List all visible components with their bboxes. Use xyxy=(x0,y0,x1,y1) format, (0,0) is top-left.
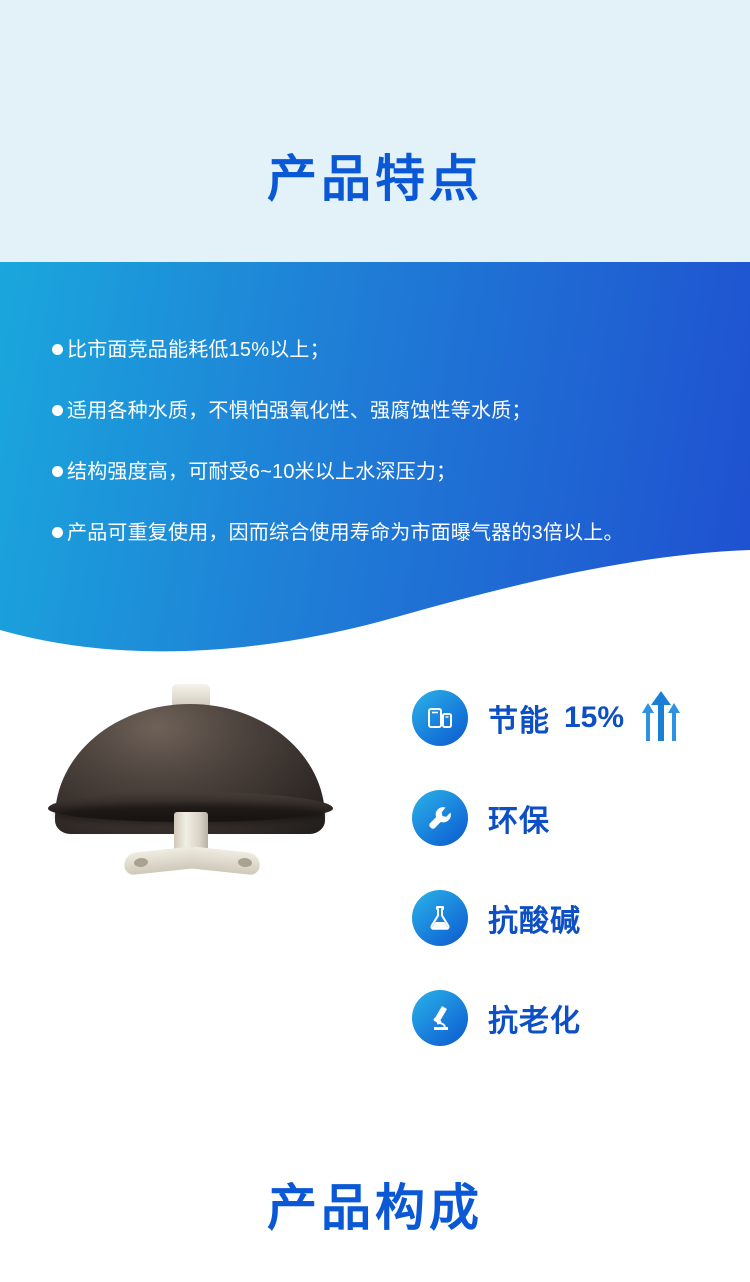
bullet-icon xyxy=(52,405,63,416)
benefit-row-energy-saving: 节能 15% xyxy=(412,690,732,746)
energy-saving-icon xyxy=(412,690,468,746)
microscope-icon xyxy=(412,990,468,1046)
feature-text: 结构强度高，可耐受6~10米以上水深压力； xyxy=(67,461,456,483)
benefit-row-acid-alkali: 抗酸碱 xyxy=(412,890,732,946)
list-item: 适用各种水质，不惧怕强氧化性、强腐蚀性等水质； xyxy=(52,399,712,424)
benefit-value: 15% xyxy=(564,701,624,735)
header-band: 产品特点 xyxy=(0,0,750,262)
benefit-row-anti-aging: 抗老化 xyxy=(412,990,732,1046)
benefit-row-eco: 环保 xyxy=(412,790,732,846)
benefit-label: 抗老化 xyxy=(488,996,581,1040)
list-item: 比市面竞品能耗低15%以上； xyxy=(52,338,712,363)
wrench-glyph-icon xyxy=(425,803,455,833)
list-item: 产品可重复使用，因而综合使用寿命为市面曝气器的3倍以上。 xyxy=(52,521,712,546)
flask-icon xyxy=(412,890,468,946)
features-section: 比市面竞品能耗低15%以上； 适用各种水质，不惧怕强氧化性、强腐蚀性等水质； 结… xyxy=(0,262,750,662)
arrow-up-icon xyxy=(638,689,684,748)
microscope-glyph-icon xyxy=(425,1003,455,1033)
feature-text: 比市面竞品能耗低15%以上； xyxy=(67,339,330,361)
wrench-icon xyxy=(412,790,468,846)
benefit-label: 环保 xyxy=(488,796,550,840)
section-title-composition: 产品构成 xyxy=(0,1168,750,1240)
benefit-label: 节能 xyxy=(488,696,550,740)
product-image xyxy=(48,672,368,902)
product-showcase: 节能 15% xyxy=(0,662,750,1102)
device-glyph-icon xyxy=(425,703,455,733)
wave-divider-icon xyxy=(0,544,750,662)
page-title: 产品特点 xyxy=(0,152,750,207)
feature-text: 产品可重复使用，因而综合使用寿命为市面曝气器的3倍以上。 xyxy=(67,522,624,544)
triple-arrow-up-icon xyxy=(638,689,684,743)
product-detail-page: 产品特点 比市面竞品能耗低15%以上； 适用各种水质，不惧怕强氧化性、强腐蚀性等… xyxy=(0,0,750,1282)
benefits-list: 节能 15% xyxy=(412,690,732,1046)
bullet-icon xyxy=(52,466,63,477)
feature-text: 适用各种水质，不惧怕强氧化性、强腐蚀性等水质； xyxy=(67,400,532,422)
bullet-icon xyxy=(52,527,63,538)
list-item: 结构强度高，可耐受6~10米以上水深压力； xyxy=(52,460,712,485)
flask-glyph-icon xyxy=(425,903,455,933)
benefit-label: 抗酸碱 xyxy=(488,896,581,940)
bullet-icon xyxy=(52,344,63,355)
